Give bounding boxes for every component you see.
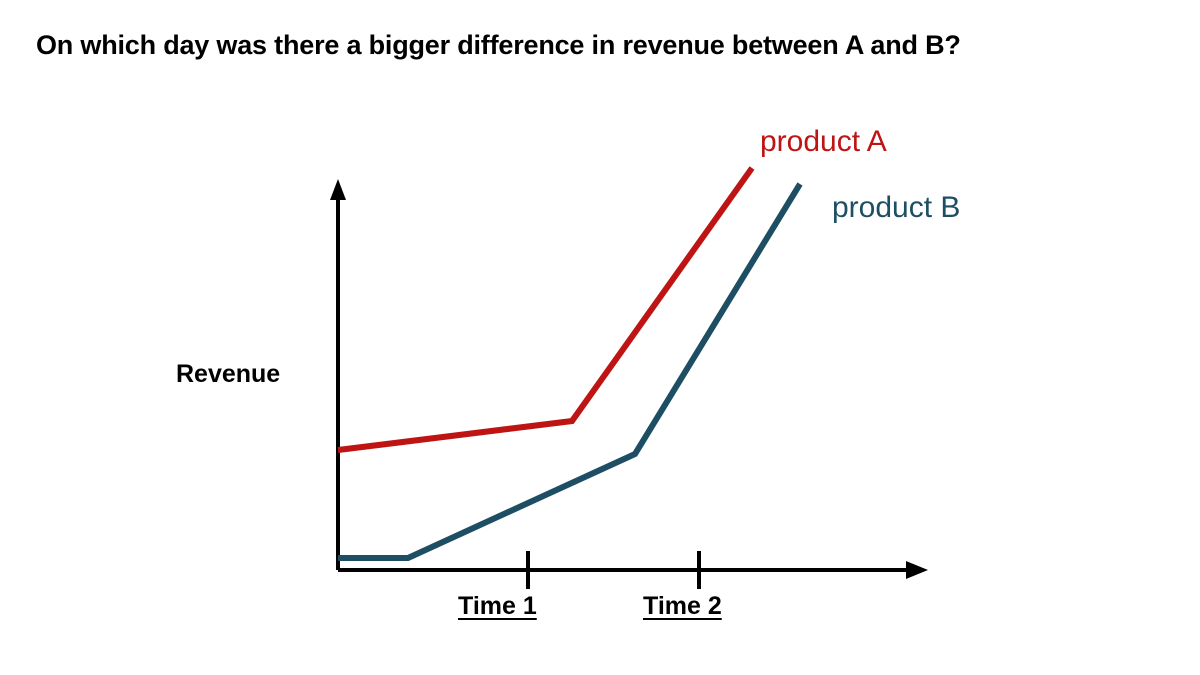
y-axis-label: Revenue xyxy=(176,360,280,389)
chart-graphics xyxy=(0,0,1200,675)
y-axis-arrow-icon xyxy=(330,179,346,200)
x-axis-tick-label-time-2: Time 2 xyxy=(643,592,722,621)
series-line-product-a xyxy=(338,168,752,450)
slide-canvas: On which day was there a bigger differen… xyxy=(0,0,1200,675)
series-line-product-b xyxy=(338,184,800,558)
x-axis-tick-label-time-1: Time 1 xyxy=(458,592,537,621)
line-chart: Revenue Time 1 Time 2 product A product … xyxy=(0,0,1200,675)
series-label-product-b: product B xyxy=(832,191,960,225)
x-axis-arrow-icon xyxy=(906,561,928,579)
series-label-product-a: product A xyxy=(760,125,887,159)
